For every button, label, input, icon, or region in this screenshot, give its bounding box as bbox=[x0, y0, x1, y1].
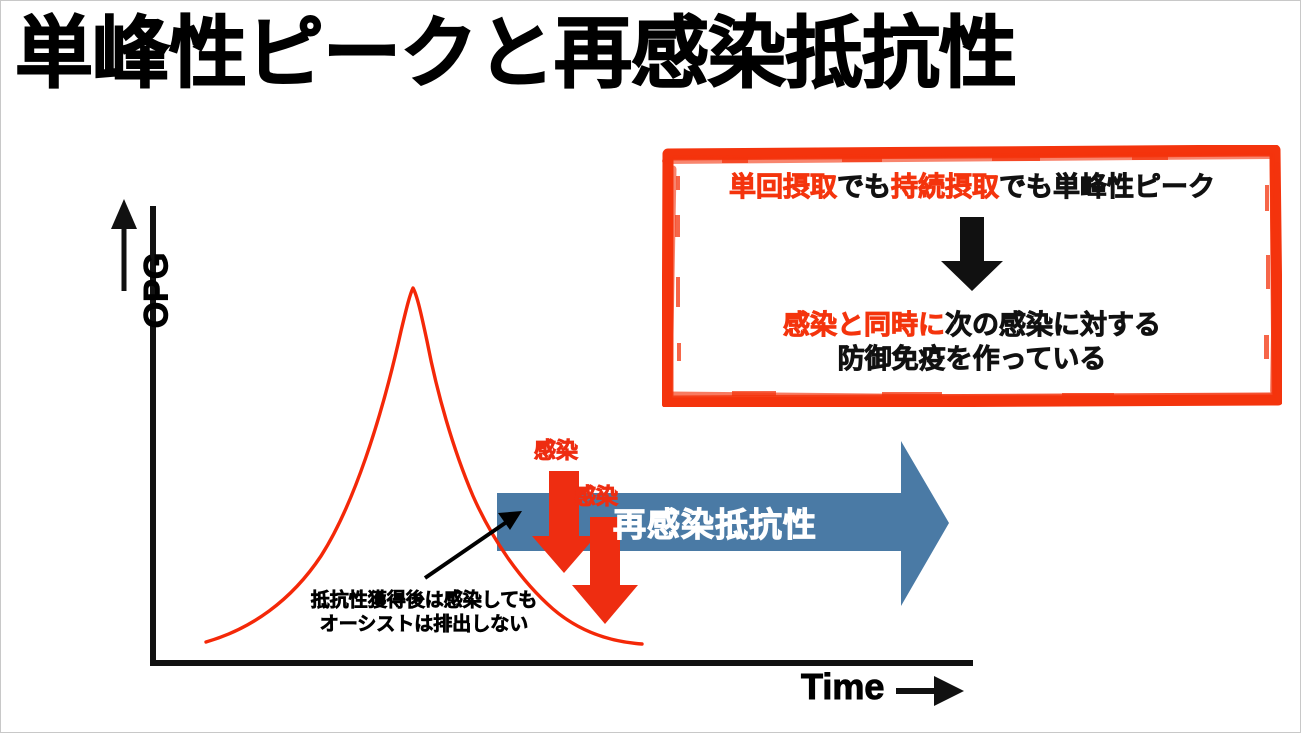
callout-line-3: 防御免疫を作っている bbox=[783, 342, 1161, 376]
callout-line1-seg3: 持続摂取 bbox=[891, 172, 999, 202]
callout-content: 単回摂取でも持続摂取でも単峰性ピーク 感染と同時に次の感染に対する 防御免疫を作… bbox=[662, 145, 1282, 407]
reinfection-band-label: 再感染抵抗性 bbox=[613, 498, 817, 546]
down-arrow-icon bbox=[933, 215, 1011, 293]
callout-box: 単回摂取でも持続摂取でも単峰性ピーク 感染と同時に次の感染に対する 防御免疫を作… bbox=[662, 145, 1282, 407]
callout-line1-seg4: でも単峰性ピーク bbox=[999, 172, 1215, 202]
callout-line-2: 感染と同時に次の感染に対する bbox=[783, 308, 1161, 342]
slide-root: 単峰性ピークと再感染抵抗性 bbox=[0, 0, 1301, 733]
callout-line2-seg2: 次の感染に対する bbox=[945, 310, 1161, 340]
callout-lines-bottom: 感染と同時に次の感染に対する 防御免疫を作っている bbox=[783, 308, 1161, 376]
callout-line3-seg1: 防御免疫を作っている bbox=[838, 344, 1107, 374]
callout-arrow-wrap bbox=[933, 215, 1011, 298]
curve-annotation-line-1: 抵抗性獲得後は感染しても bbox=[279, 589, 569, 613]
callout-line2-seg1: 感染と同時に bbox=[783, 310, 945, 340]
arrow-up-icon bbox=[111, 199, 137, 291]
infection-label-1: 感染 bbox=[534, 433, 578, 465]
arrow-right-icon bbox=[896, 676, 964, 706]
y-axis-label: OPG bbox=[138, 231, 177, 351]
x-axis-label: Time bbox=[801, 666, 884, 708]
callout-line1-seg2: でも bbox=[837, 172, 891, 202]
callout-line1-seg1: 単回摂取 bbox=[729, 172, 837, 202]
curve-annotation-line-2: オーシストは排出しない bbox=[279, 613, 569, 637]
callout-line-1: 単回摂取でも持続摂取でも単峰性ピーク bbox=[729, 171, 1215, 203]
infection-label-2: 感染 bbox=[574, 479, 618, 511]
curve-annotation: 抵抗性獲得後は感染しても オーシストは排出しない bbox=[279, 589, 569, 638]
